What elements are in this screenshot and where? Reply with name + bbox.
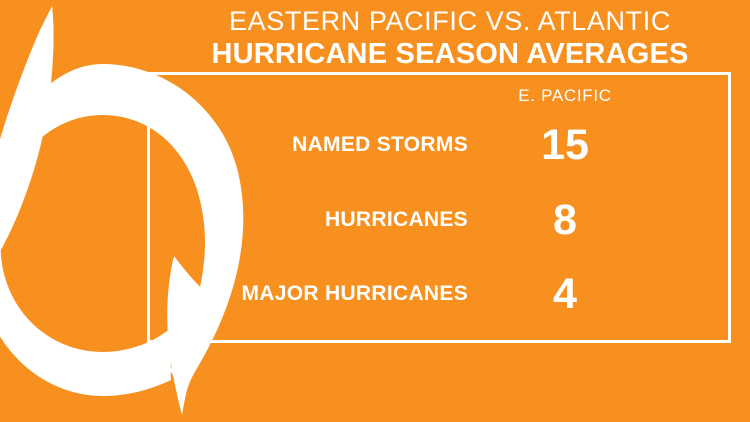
title-line-2: HURRICANE SEASON AVERAGES (150, 40, 750, 69)
averages-table: E. PACIFIC NAMED STORMS 15 HURRICANES 8 … (160, 86, 720, 331)
page-title: EASTERN PACIFIC VS. ATLANTIC HURRICANE S… (150, 8, 750, 69)
table-row: NAMED STORMS 15 (160, 120, 720, 170)
column-header-e-pacific: E. PACIFIC (485, 86, 645, 106)
row-label-named-storms: NAMED STORMS (160, 120, 468, 170)
infographic-card: EASTERN PACIFIC VS. ATLANTIC HURRICANE S… (0, 0, 750, 422)
row-label-major-hurricanes: MAJOR HURRICANES (160, 269, 468, 319)
table-row: MAJOR HURRICANES 4 (160, 269, 720, 319)
row-value-named-storms: 15 (485, 120, 645, 170)
row-value-hurricanes: 8 (485, 195, 645, 245)
row-value-major-hurricanes: 4 (485, 269, 645, 319)
row-label-hurricanes: HURRICANES (160, 195, 468, 245)
table-row: HURRICANES 8 (160, 195, 720, 245)
title-line-1: EASTERN PACIFIC VS. ATLANTIC (150, 8, 750, 35)
